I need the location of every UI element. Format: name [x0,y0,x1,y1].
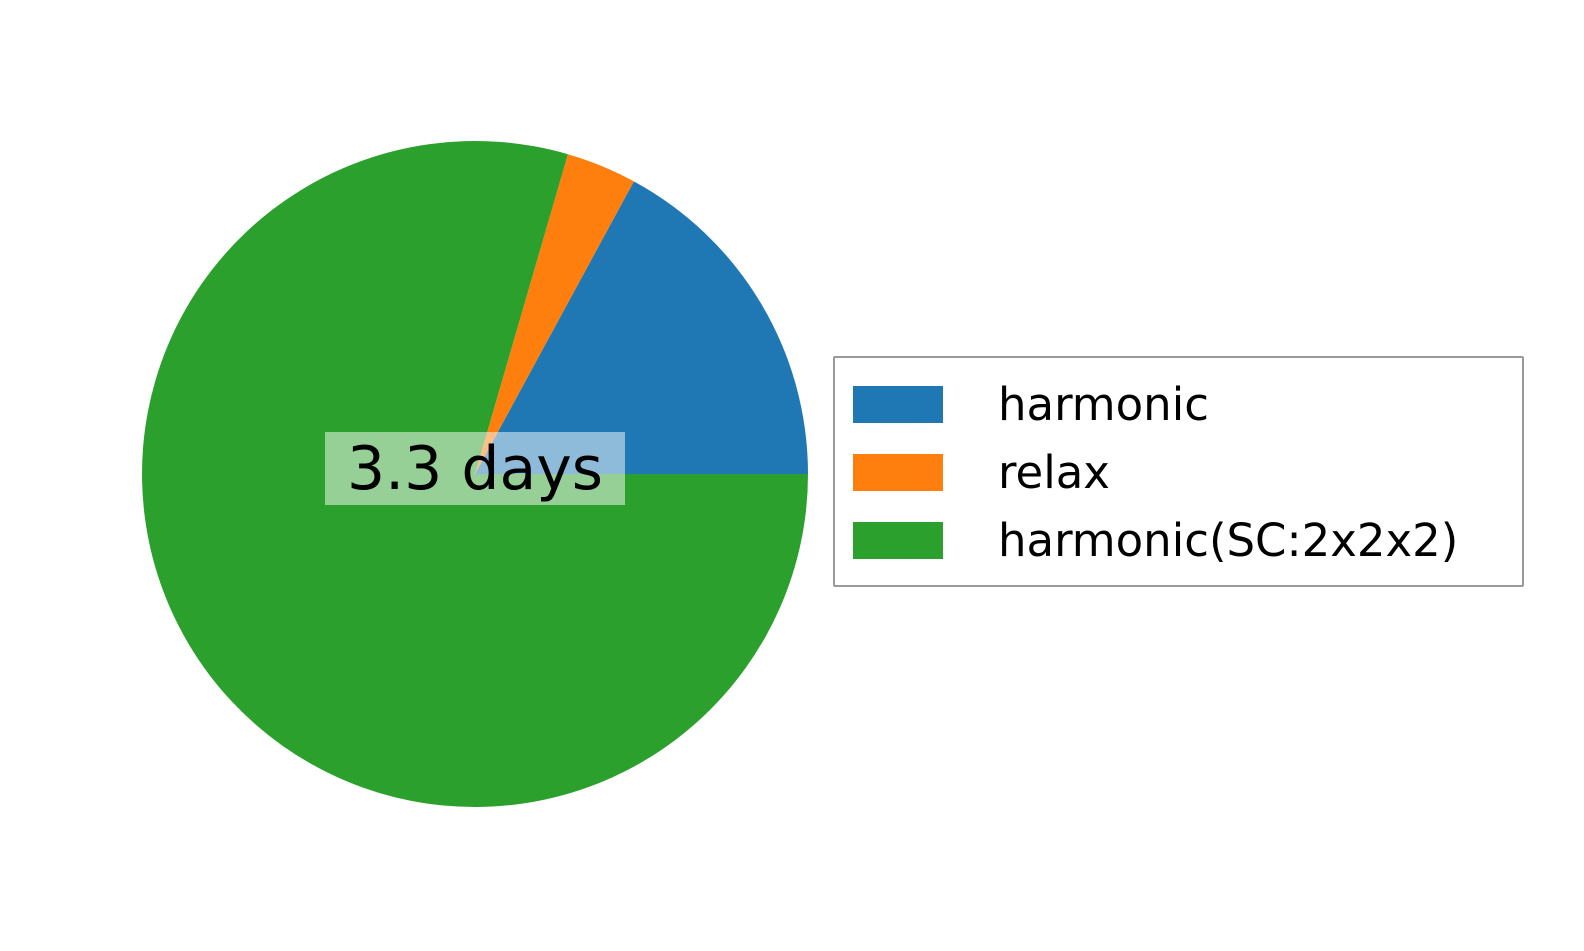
legend-swatch-1 [853,454,943,491]
legend-swatch-0 [853,386,943,423]
legend-swatch-2 [853,522,943,559]
chart-legend: harmonicrelaxharmonic(SC:2x2x2) [833,356,1524,587]
figure-canvas: 3.3 days harmonicrelaxharmonic(SC:2x2x2) [0,0,1584,951]
legend-item-2[interactable]: harmonic(SC:2x2x2) [853,506,1522,574]
legend-label-0: harmonic [998,382,1209,427]
legend-label-2: harmonic(SC:2x2x2) [998,518,1458,563]
legend-item-0[interactable]: harmonic [853,370,1522,438]
pie-wedge-group [142,141,808,807]
legend-label-1: relax [998,450,1110,495]
legend-item-list: harmonicrelaxharmonic(SC:2x2x2) [853,370,1522,585]
legend-item-1[interactable]: relax [853,438,1522,506]
